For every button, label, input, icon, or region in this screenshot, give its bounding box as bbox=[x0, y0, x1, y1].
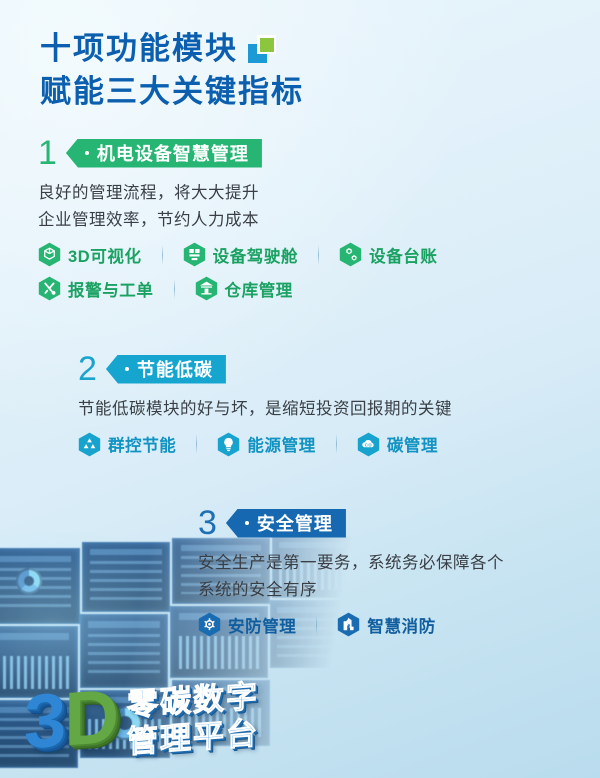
badge-dot-icon bbox=[245, 521, 249, 525]
feature-chip-smart-firefighting[interactable]: 智慧消防 bbox=[337, 612, 435, 637]
feature-chip-carbon-management[interactable]: CO 碳管理 bbox=[357, 432, 438, 457]
feature-chip-group-control-energy-saving[interactable]: 群控节能 bbox=[78, 432, 176, 457]
title-row: 十项功能模块 bbox=[40, 28, 560, 71]
section-description: 安全生产是第一要务，系统务必保障各个 系统的安全有序 bbox=[198, 550, 600, 603]
feature-chip-label: 安防管理 bbox=[228, 613, 296, 637]
section-description-line-1: 良好的管理流程，将大大提升 bbox=[38, 180, 598, 207]
feature-chip-label: 能源管理 bbox=[247, 432, 315, 456]
section-badge-label: 节能低碳 bbox=[137, 356, 213, 382]
section-badge: 安全管理 bbox=[226, 509, 346, 538]
chip-separator bbox=[196, 434, 197, 454]
page-title-line-1: 十项功能模块 bbox=[40, 28, 238, 71]
section-description: 良好的管理流程，将大大提升 企业管理效率，节约人力成本 bbox=[38, 180, 598, 233]
feature-chip-label: 智慧消防 bbox=[367, 613, 435, 637]
cube-3d-icon bbox=[38, 242, 61, 267]
feature-chip-row: 安防管理 智慧消防 bbox=[198, 612, 600, 637]
svg-text:CO: CO bbox=[365, 442, 373, 447]
feature-chip-label: 3D可视化 bbox=[68, 243, 142, 267]
section-description-line-2: 系统的安全有序 bbox=[198, 577, 600, 604]
feature-chip-label: 仓库管理 bbox=[225, 277, 293, 301]
logo-digit-3: 3 bbox=[24, 682, 64, 761]
fire-safety-icon bbox=[337, 612, 360, 637]
section-electromechanical-management: 1 机电设备智慧管理 良好的管理流程，将大大提升 企业管理效率，节约人力成本 3… bbox=[38, 136, 598, 301]
feature-chip-label: 设备台账 bbox=[369, 243, 437, 267]
section-safety-management: 3 安全管理 安全生产是第一要务，系统务必保障各个 系统的安全有序 安防管理 bbox=[198, 506, 600, 637]
section-energy-saving-low-carbon: 2 节能低碳 节能低碳模块的好与坏，是缩短投资回报期的关键 群控节能 bbox=[78, 352, 600, 457]
tools-wrench-icon bbox=[38, 276, 61, 301]
lightbulb-icon bbox=[217, 432, 240, 457]
logo-wordmark: 零碳数字 管理平台 bbox=[127, 680, 259, 761]
security-shield-icon bbox=[198, 612, 221, 637]
warehouse-icon bbox=[195, 276, 218, 301]
logo-wordmark-line-1: 零碳数字 bbox=[127, 680, 259, 724]
section-badge: 机电设备智慧管理 bbox=[66, 139, 262, 168]
section-description-line-1: 安全生产是第一要务，系统务必保障各个 bbox=[198, 550, 600, 577]
section-header: 1 机电设备智慧管理 bbox=[38, 136, 598, 170]
feature-chip-label: 报警与工单 bbox=[68, 277, 154, 301]
brand-logo-mark-icon bbox=[248, 35, 276, 63]
feature-chip-label: 设备驾驶舱 bbox=[213, 243, 299, 267]
section-badge-label: 机电设备智慧管理 bbox=[97, 140, 249, 166]
section-description-line-1: 节能低碳模块的好与坏，是缩短投资回报期的关键 bbox=[78, 396, 600, 423]
chip-separator bbox=[174, 279, 175, 299]
section-number: 1 bbox=[38, 136, 57, 170]
chip-separator bbox=[316, 615, 317, 635]
chip-separator bbox=[162, 245, 163, 265]
infographic-poster: 十项功能模块 赋能三大关键指标 1 机电设备智慧管理 良好的管理流程，将大大提升… bbox=[0, 0, 600, 778]
feature-chip-row: 群控节能 能源管理 CO 碳管理 bbox=[78, 432, 600, 457]
feature-chip-energy-management[interactable]: 能源管理 bbox=[217, 432, 315, 457]
chip-separator bbox=[318, 245, 319, 265]
section-badge-label: 安全管理 bbox=[257, 510, 333, 536]
feature-chip-equipment-cockpit[interactable]: 设备驾驶舱 bbox=[183, 242, 299, 267]
section-badge: 节能低碳 bbox=[106, 355, 226, 384]
feature-chip-equipment-ledger[interactable]: 设备台账 bbox=[339, 242, 437, 267]
gears-icon bbox=[339, 242, 362, 267]
feature-chip-alarm-workorder[interactable]: 报警与工单 bbox=[38, 276, 154, 301]
footer-product-logo: 3 D 零碳数字 管理平台 bbox=[24, 668, 354, 772]
feature-chip-security-management[interactable]: 安防管理 bbox=[198, 612, 296, 637]
poster-header: 十项功能模块 赋能三大关键指标 bbox=[40, 28, 560, 114]
feature-chip-label: 群控节能 bbox=[108, 432, 176, 456]
dashboard-cockpit-icon bbox=[183, 242, 206, 267]
logo-3d-mark: 3 D bbox=[24, 679, 117, 762]
feature-chip-3d-visualization[interactable]: 3D可视化 bbox=[38, 242, 142, 267]
page-title-line-2: 赋能三大关键指标 bbox=[40, 71, 560, 114]
recycle-icon bbox=[78, 432, 101, 457]
logo-letter-d: D bbox=[64, 679, 117, 759]
section-number: 3 bbox=[198, 506, 217, 540]
section-description-line-2: 企业管理效率，节约人力成本 bbox=[38, 207, 598, 234]
chip-row-break bbox=[38, 267, 598, 276]
feature-chip-row: 3D可视化 设备驾驶舱 设备台账 bbox=[38, 242, 598, 301]
section-header: 3 安全管理 bbox=[198, 506, 600, 540]
logo-wordmark-line-2: 管理平台 bbox=[127, 716, 259, 760]
feature-chip-label: 碳管理 bbox=[387, 432, 438, 456]
chip-separator bbox=[336, 434, 337, 454]
badge-dot-icon bbox=[85, 151, 89, 155]
section-number: 2 bbox=[78, 352, 97, 386]
feature-chip-warehouse-management[interactable]: 仓库管理 bbox=[195, 276, 293, 301]
section-header: 2 节能低碳 bbox=[78, 352, 600, 386]
badge-dot-icon bbox=[125, 367, 129, 371]
section-description: 节能低碳模块的好与坏，是缩短投资回报期的关键 bbox=[78, 396, 600, 423]
co2-cloud-icon: CO bbox=[357, 432, 380, 457]
